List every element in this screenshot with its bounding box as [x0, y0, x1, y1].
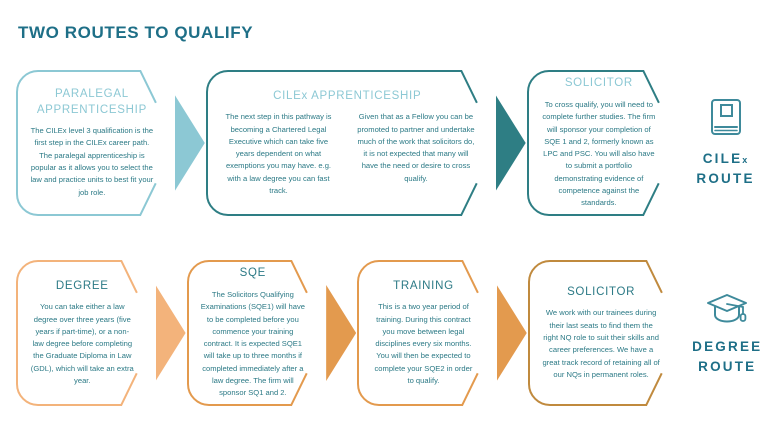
step-solicitor-cilex: SOLICITOR To cross qualify, you will nee… [527, 70, 677, 216]
step-body: The CILEx level 3 qualification is the f… [30, 125, 154, 199]
step-body: To cross qualify, you will need to compl… [541, 99, 657, 210]
cilex-route-label-main: CILE [703, 151, 743, 166]
degree-route-label: DEGREE ROUTE [692, 337, 762, 376]
book-icon [706, 97, 746, 141]
step-title: TRAINING [371, 279, 476, 295]
step-body-left: The next step in this pathway is becomin… [220, 111, 337, 197]
connector-arrow [496, 95, 526, 191]
step-title: DEGREE [30, 279, 135, 295]
degree-route-label-main: DEGREE [692, 339, 762, 354]
step-body: You can take either a law degree over th… [30, 301, 135, 387]
step-title: SOLICITOR [542, 285, 661, 301]
step-body-right: Given that as a Fellow you can be promot… [357, 111, 474, 197]
connector-arrow [326, 285, 356, 381]
step-degree: DEGREE You can take either a law degree … [16, 260, 155, 406]
degree-route-end: DEGREE ROUTE [686, 289, 768, 376]
degree-route-row: DEGREE You can take either a law degree … [0, 258, 768, 408]
step-sqe: SQE The Solicitors Qualifying Examinatio… [187, 260, 326, 406]
connector-arrow [156, 285, 186, 381]
step-training: TRAINING This is a two year period of tr… [357, 260, 496, 406]
step-title: CILEx APPRENTICESHIP [220, 89, 475, 105]
degree-route-label-second: ROUTE [698, 359, 756, 374]
step-paralegal-apprenticeship: PARALEGAL APPRENTICESHIP The CILEx level… [16, 70, 174, 216]
step-body: We work with our trainees during their l… [542, 307, 661, 381]
step-title: PARALEGAL APPRENTICESHIP [30, 87, 154, 118]
connector-arrow [497, 285, 527, 381]
connector-arrow [175, 95, 205, 191]
step-title: SOLICITOR [541, 76, 657, 92]
cilex-route-row: PARALEGAL APPRENTICESHIP The CILEx level… [0, 68, 768, 218]
step-cilex-apprenticeship: CILEx APPRENTICESHIP The next step in th… [206, 70, 495, 216]
step-body: The Solicitors Qualifying Examinations (… [201, 289, 306, 400]
page-title: TWO ROUTES TO QUALIFY [18, 23, 253, 43]
cilex-route-label: CILEx ROUTE [696, 149, 754, 188]
cilex-route-label-second: ROUTE [696, 171, 754, 186]
step-title: SQE [201, 266, 306, 282]
step-body: This is a two year period of training. D… [371, 301, 476, 387]
cilex-route-label-sub: x [742, 155, 748, 165]
step-solicitor-degree: SOLICITOR We work with our trainees duri… [528, 260, 681, 406]
graduation-cap-icon [704, 289, 750, 329]
cilex-route-end: CILEx ROUTE [683, 97, 768, 188]
